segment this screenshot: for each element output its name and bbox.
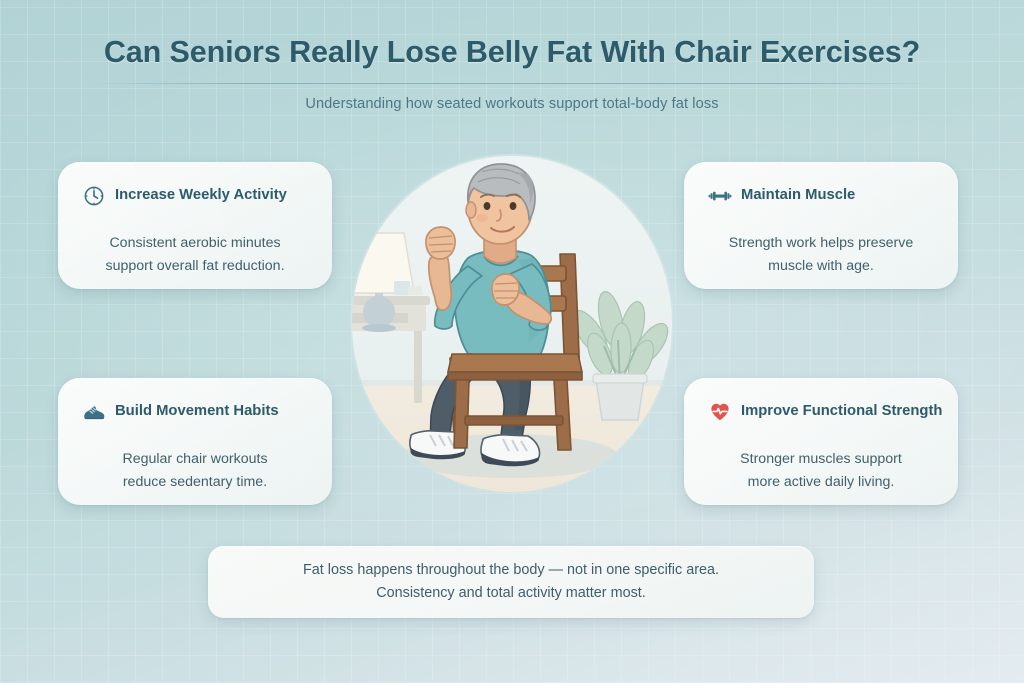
- fist-left: [426, 227, 455, 259]
- clock-icon: [82, 184, 106, 208]
- card-body: Stronger muscles support more active dai…: [708, 448, 934, 494]
- heart-pulse-icon: [708, 400, 732, 424]
- page-subtitle: Understanding how seated workouts suppor…: [0, 96, 1024, 112]
- card-body-line-1: Consistent aerobic minutes: [82, 232, 308, 255]
- running-shoe-icon: [82, 400, 106, 424]
- card-body-line-2: support overall fat reduction.: [82, 255, 308, 278]
- card-increase-weekly-activity: Increase Weekly Activity Consistent aero…: [58, 162, 332, 289]
- card-body-line-1: Strength work helps preserve: [708, 232, 934, 255]
- infographic-canvas: Can Seniors Really Lose Belly Fat With C…: [0, 0, 1024, 683]
- summary-banner: Fat loss happens throughout the body — n…: [208, 546, 814, 618]
- card-header: Improve Functional Strength: [708, 400, 934, 424]
- card-body-line-2: more active daily living.: [708, 471, 934, 494]
- card-title: Increase Weekly Activity: [115, 187, 287, 205]
- card-maintain-muscle: Maintain Muscle Strength work helps pres…: [684, 162, 958, 289]
- card-header: Increase Weekly Activity: [82, 184, 308, 208]
- card-header: Build Movement Habits: [82, 400, 308, 424]
- card-build-movement-habits: Build Movement Habits Regular chair work…: [58, 378, 332, 505]
- card-body: Strength work helps preserve muscle with…: [708, 232, 934, 278]
- card-header: Maintain Muscle: [708, 184, 934, 208]
- card-body-line-2: muscle with age.: [708, 255, 934, 278]
- summary-line-2: Consistency and total activity matter mo…: [376, 582, 646, 605]
- summary-line-1: Fat loss happens throughout the body — n…: [303, 559, 719, 582]
- header: Can Seniors Really Lose Belly Fat With C…: [0, 34, 1024, 112]
- fist-right: [492, 274, 519, 305]
- card-body: Consistent aerobic minutes support overa…: [82, 232, 308, 278]
- page-title: Can Seniors Really Lose Belly Fat With C…: [0, 34, 1024, 71]
- shoe-right: [481, 435, 540, 466]
- card-title: Improve Functional Strength: [741, 403, 942, 421]
- card-improve-functional-strength: Improve Functional Strength Stronger mus…: [684, 378, 958, 505]
- card-title: Maintain Muscle: [741, 187, 855, 205]
- dumbbell-icon: [708, 184, 732, 208]
- title-divider: [90, 83, 935, 84]
- card-body-line-1: Regular chair workouts: [82, 448, 308, 471]
- card-body-line-2: reduce sedentary time.: [82, 471, 308, 494]
- central-illustration: [332, 148, 692, 520]
- card-title: Build Movement Habits: [115, 403, 279, 421]
- card-body: Regular chair workouts reduce sedentary …: [82, 448, 308, 494]
- card-body-line-1: Stronger muscles support: [708, 448, 934, 471]
